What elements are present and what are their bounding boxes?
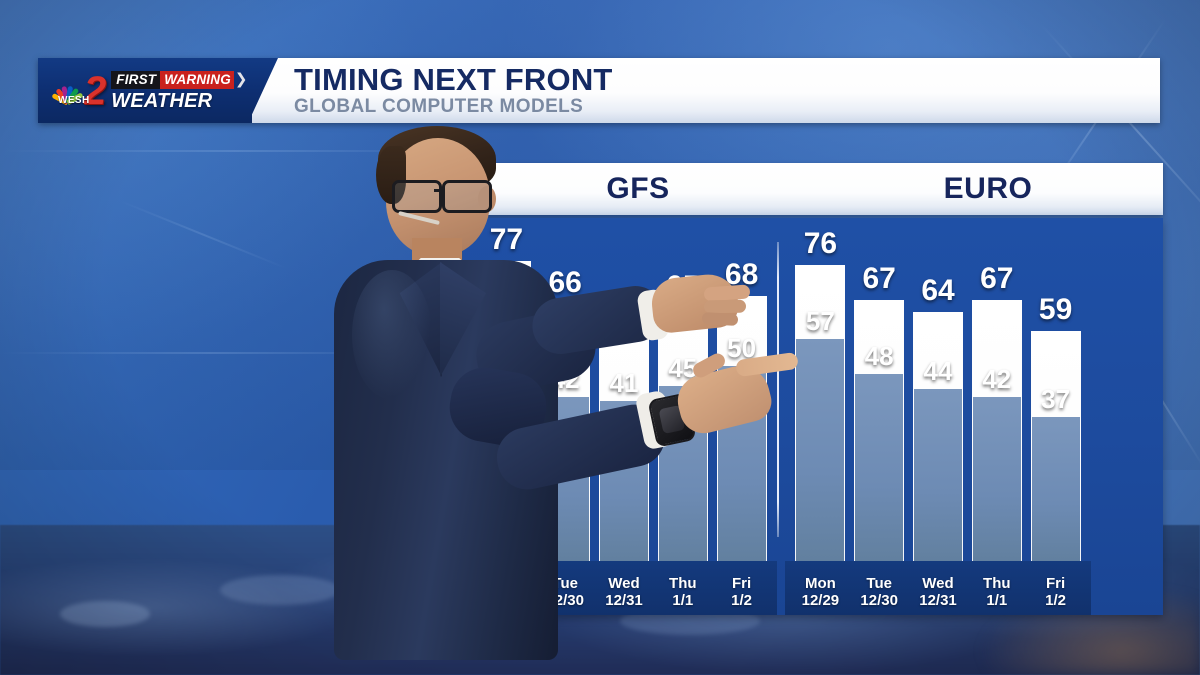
axis-day-label: Thu1/1 xyxy=(669,575,697,609)
high-value-label: 67 xyxy=(863,264,896,294)
bar-column-euro-fri: 5937 xyxy=(1031,218,1081,561)
page-title: TIMING NEXT FRONT xyxy=(294,64,613,95)
high-value-label: 59 xyxy=(1039,295,1072,325)
high-value-label: 76 xyxy=(804,229,837,259)
shoulder-highlight xyxy=(352,270,432,400)
broadcast-screenshot: WESH 2 FIRST WARNING ❯ WEATHER TIMING NE… xyxy=(0,0,1200,675)
model-label-euro: EURO xyxy=(813,172,1163,206)
axis-day-label: Fri1/2 xyxy=(731,575,752,609)
brand-warning-label: WARNING xyxy=(160,71,234,89)
brand-weather-label: WEATHER xyxy=(111,91,247,111)
header-banner: WESH 2 FIRST WARNING ❯ WEATHER TIMING NE… xyxy=(38,58,1160,123)
axis-day-label: Wed12/31 xyxy=(919,575,957,609)
high-value-label: 67 xyxy=(980,264,1013,294)
axis-band-euro: Mon12/29Tue12/30Wed12/31Thu1/1Fri1/2 xyxy=(785,561,1091,615)
low-value-label: 44 xyxy=(924,358,953,384)
bar-column-euro-wed: 6444 xyxy=(913,218,963,561)
glasses-lens-right xyxy=(442,180,492,213)
low-bar xyxy=(1032,417,1080,561)
low-value-label: 48 xyxy=(865,343,894,369)
glasses-lens-left xyxy=(392,180,442,213)
axis-day-label: Mon12/29 xyxy=(802,575,840,609)
bar-column-euro-tue: 6748 xyxy=(854,218,904,561)
meteorologist xyxy=(300,120,660,675)
first-warning-weather-lockup: FIRST WARNING ❯ WEATHER xyxy=(111,71,247,111)
plot-area-euro: 76576748644467425937 xyxy=(785,218,1091,561)
finger xyxy=(704,300,746,314)
chevron-right-icon: ❯ xyxy=(235,72,248,88)
low-value-label: 37 xyxy=(1041,386,1070,412)
chart-group-euro: 76576748644467425937 Mon12/29Tue12/30Wed… xyxy=(785,218,1091,615)
station-logo: WESH 2 FIRST WARNING ❯ WEATHER xyxy=(38,58,252,123)
glasses-bridge xyxy=(434,189,444,192)
low-bar xyxy=(973,397,1021,561)
bar-column-euro-mon: 7657 xyxy=(795,218,845,561)
nbc-peacock-icon: WESH xyxy=(47,74,87,108)
high-value-label: 64 xyxy=(921,276,954,306)
low-bar xyxy=(855,374,903,561)
low-value-label: 42 xyxy=(982,366,1011,392)
panel-divider xyxy=(777,242,779,537)
axis-day-label: Tue12/30 xyxy=(860,575,898,609)
brand-first-label: FIRST xyxy=(111,71,160,89)
page-subtitle: GLOBAL COMPUTER MODELS xyxy=(294,96,613,117)
low-value-label: 57 xyxy=(806,308,835,334)
station-callsign: WESH xyxy=(58,95,90,106)
bar-column-euro-thu: 6742 xyxy=(972,218,1022,561)
axis-day-label: Fri1/2 xyxy=(1045,575,1066,609)
low-bar xyxy=(914,389,962,561)
axis-day-label: Thu1/1 xyxy=(983,575,1011,609)
finger xyxy=(702,312,739,326)
low-bar xyxy=(796,339,844,561)
header-text-block: TIMING NEXT FRONT GLOBAL COMPUTER MODELS xyxy=(294,58,613,123)
